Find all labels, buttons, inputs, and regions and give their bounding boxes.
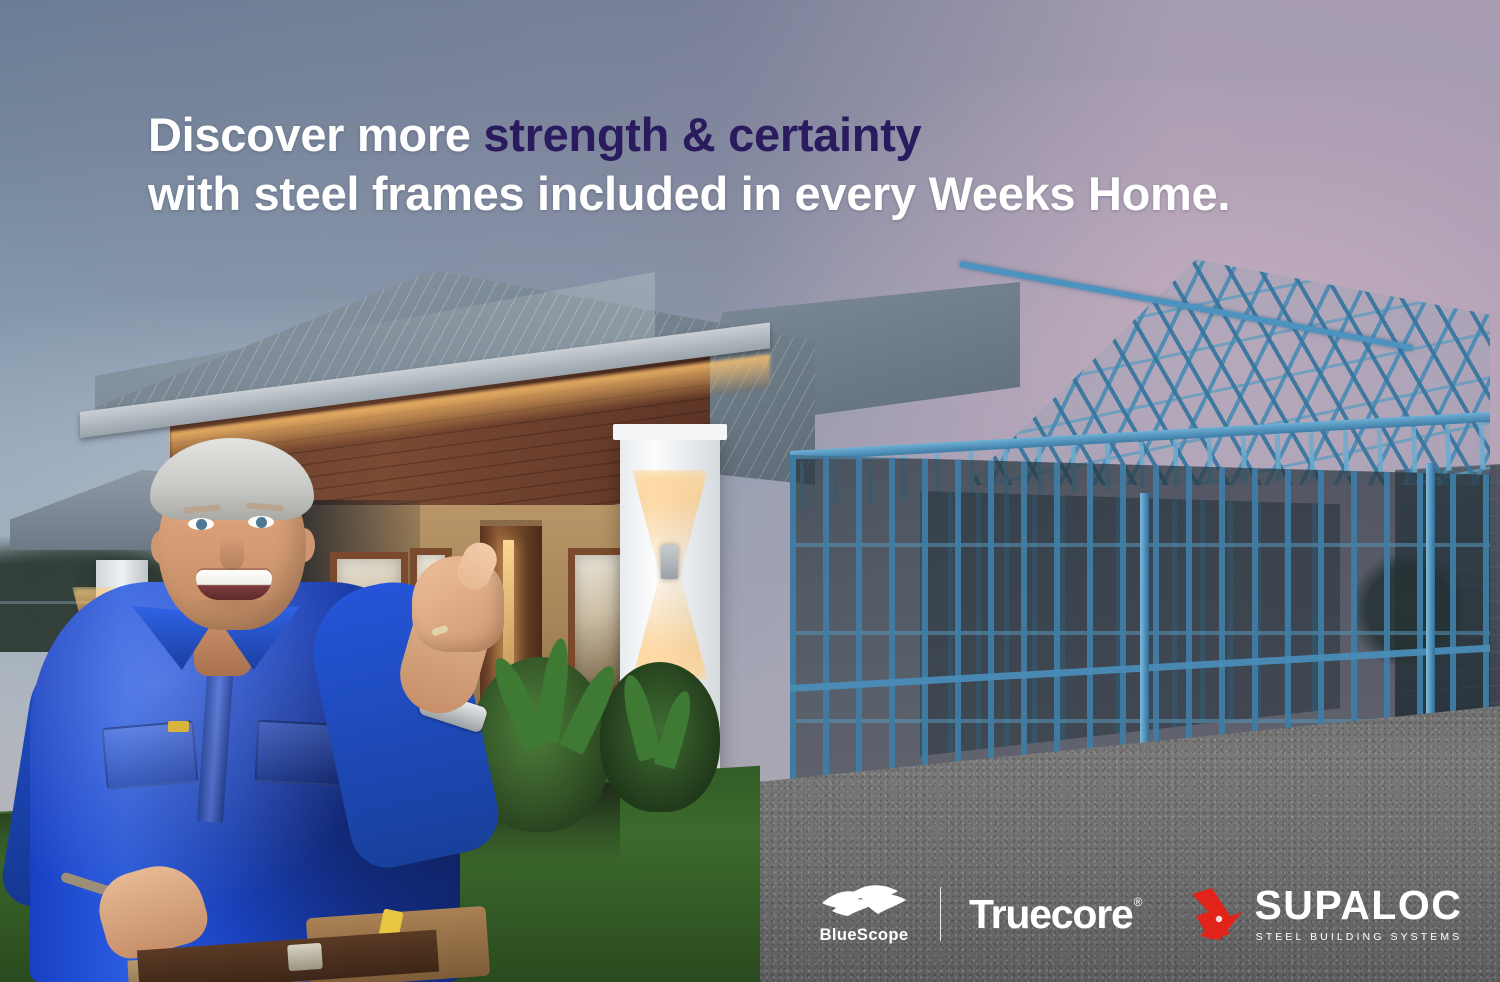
hair [150, 438, 314, 520]
eye-right [248, 516, 274, 528]
corner-post-right [1426, 463, 1435, 755]
iris-right [256, 517, 267, 528]
bluescope-wave-icon [818, 884, 910, 924]
partner-logo-bar: BlueScope Truecore ® SUPALOC STEEL BUILD… [808, 878, 1462, 950]
nose [220, 536, 244, 570]
iris-left [196, 519, 207, 530]
bluescope-wordmark: BlueScope [820, 926, 909, 945]
truecore-registered-mark: ® [1134, 896, 1143, 908]
supaloc-tagline: STEEL BUILDING SYSTEMS [1254, 931, 1462, 943]
banner-image: Discover more strength & certainty with … [0, 0, 1500, 982]
corner-post-left [1140, 493, 1149, 785]
headline-line-2: with steel frames included in every Week… [148, 164, 1348, 223]
headline-accent: strength & certainty [483, 108, 921, 161]
logo-divider [940, 887, 941, 941]
truecore-logo[interactable]: Truecore ® [969, 894, 1142, 935]
presenter-person [8, 407, 508, 982]
headline-prefix: Discover more [148, 108, 483, 161]
bluescope-logo[interactable]: BlueScope [808, 884, 920, 945]
eye-left [188, 518, 214, 530]
shirt-brand-badge [168, 721, 189, 732]
truecore-wordmark: Truecore [969, 894, 1133, 935]
supaloc-text-block: SUPALOC STEEL BUILDING SYSTEMS [1254, 885, 1462, 943]
page-title: Discover more strength & certainty with … [148, 105, 1348, 223]
smiling-mouth [196, 570, 272, 600]
pillar-cap [613, 424, 727, 440]
chin-shadow [186, 600, 282, 624]
supaloc-wordmark: SUPALOC [1254, 885, 1462, 926]
supaloc-bolt-icon [1190, 886, 1250, 942]
supaloc-logo[interactable]: SUPALOC STEEL BUILDING SYSTEMS [1190, 885, 1462, 943]
belt-buckle [287, 943, 323, 971]
headline-line-1: Discover more strength & certainty [148, 105, 1348, 164]
wall-light-main [661, 545, 678, 579]
